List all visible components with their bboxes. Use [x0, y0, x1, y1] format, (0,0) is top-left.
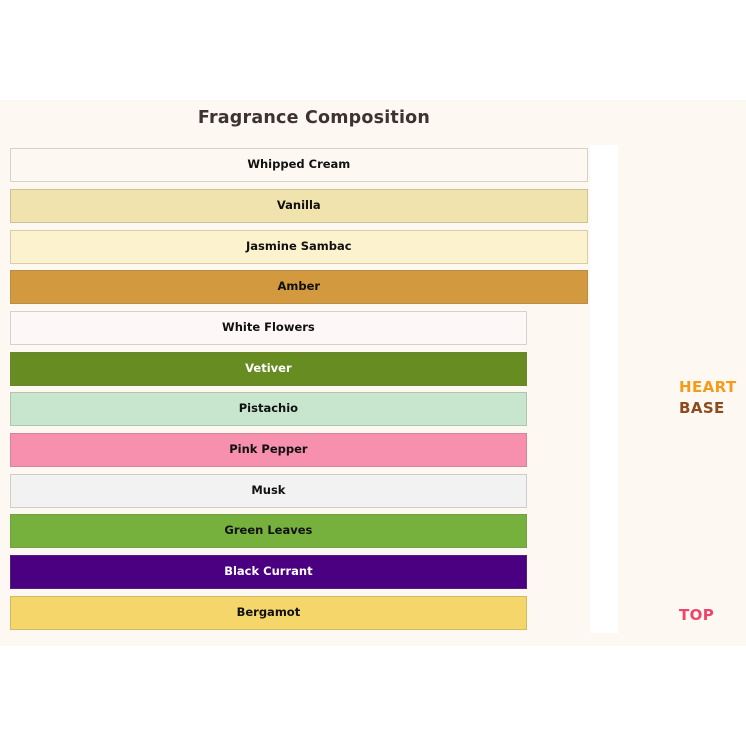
bar-label: Pistachio: [10, 403, 527, 415]
group-label-heart: HEART: [679, 378, 737, 396]
bar-label: Musk: [10, 485, 527, 497]
chart-figure: Fragrance Composition Whipped CreamVanil…: [0, 100, 746, 646]
bar-label: Vetiver: [10, 363, 527, 375]
chart-title: Fragrance Composition: [0, 108, 628, 128]
bar-label: Vanilla: [10, 200, 588, 212]
group-label-base: BASE: [679, 399, 725, 417]
bar-label: Bergamot: [10, 607, 527, 619]
bar-label: Green Leaves: [10, 525, 527, 537]
plot-area: Whipped CreamVanillaJasmine SambacAmberW…: [10, 145, 618, 633]
group-label-top: TOP: [679, 606, 714, 624]
bar-label: Pink Pepper: [10, 444, 527, 456]
bar-label: Black Currant: [10, 566, 527, 578]
bar-label: Whipped Cream: [10, 159, 588, 171]
bar-label: Jasmine Sambac: [10, 241, 588, 253]
bar-label: White Flowers: [10, 322, 527, 334]
bar-label: Amber: [10, 281, 588, 293]
